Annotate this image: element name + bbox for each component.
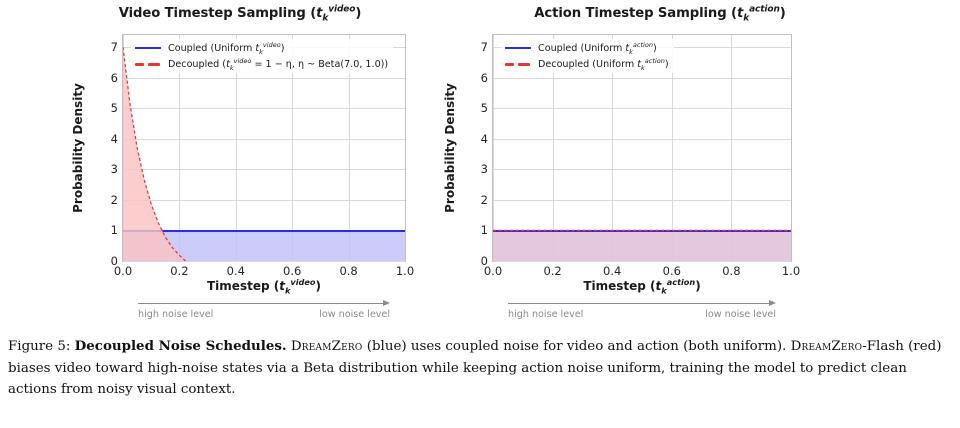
noise-direction-arrow-icon bbox=[138, 299, 390, 309]
y-tick-2: 2 bbox=[111, 193, 118, 207]
legend-swatch-dashed-line-icon bbox=[505, 58, 531, 70]
x-tick-2: 0.4 bbox=[227, 264, 245, 278]
caption-middle-text: (blue) uses coupled noise for video and … bbox=[362, 339, 790, 354]
x-axis-label-action: Timestep (tkaction) bbox=[492, 279, 792, 293]
x-tick-4: 0.8 bbox=[339, 264, 357, 278]
legend-swatch-solid-line-icon bbox=[505, 42, 531, 54]
legend-item-decoupled: Decoupled (Uniform tkaction) bbox=[505, 58, 669, 70]
gridline-y-0 bbox=[123, 261, 405, 262]
note-high-noise: high noise level bbox=[138, 309, 213, 320]
panel-title-video: Video Timestep Sampling (tkvideo) bbox=[20, 6, 460, 21]
y-tick-6: 6 bbox=[111, 71, 118, 85]
x-tick-2: 0.4 bbox=[603, 264, 621, 278]
x-tick-4: 0.8 bbox=[722, 264, 740, 278]
legend-label-coupled: Coupled (Uniform tkaction) bbox=[538, 43, 657, 54]
y-tick-3: 3 bbox=[111, 162, 118, 176]
y-tick-2: 2 bbox=[481, 193, 488, 207]
x-tick-5: 1.0 bbox=[782, 264, 800, 278]
legend-item-coupled: Coupled (Uniform tkaction) bbox=[505, 42, 669, 54]
y-tick-4: 4 bbox=[481, 132, 488, 146]
x-tick-5: 1.0 bbox=[396, 264, 414, 278]
caption-system-name-2: DreamZero bbox=[791, 339, 863, 354]
caption-figure-number: Figure 5: bbox=[8, 339, 70, 354]
legend-item-coupled: Coupled (Uniform tkvideo) bbox=[135, 42, 388, 54]
y-tick-6: 6 bbox=[481, 71, 488, 85]
legend-swatch-solid-line-icon bbox=[135, 42, 161, 54]
plot-area-action: 0 1 2 3 4 5 6 7 0.0 0.2 0.4 0.6 0.8 1.0 … bbox=[492, 34, 792, 262]
caption-bold-title: Decoupled Noise Schedules. bbox=[75, 338, 287, 354]
y-tick-4: 4 bbox=[111, 132, 118, 146]
x-tick-1: 0.2 bbox=[543, 264, 561, 278]
noise-direction-arrow-icon bbox=[508, 299, 776, 309]
plot-area-video: 0 1 2 3 4 5 6 7 0.0 0.2 0.4 0.6 0.8 1.0 … bbox=[122, 34, 406, 262]
x-tick-0: 0.0 bbox=[114, 264, 132, 278]
note-high-noise: high noise level bbox=[508, 309, 583, 320]
legend-item-decoupled: Decoupled (tkvideo = 1 − η, η ~ Beta(7.0… bbox=[135, 58, 388, 70]
y-axis-label-action: Probability Density bbox=[443, 83, 457, 213]
note-low-noise: low noise level bbox=[319, 309, 390, 320]
x-tick-0: 0.0 bbox=[484, 264, 502, 278]
gridline-y-0 bbox=[493, 261, 791, 262]
legend-action: Coupled (Uniform tkaction) Decoupled (Un… bbox=[501, 39, 674, 73]
panel-action-timestep-sampling: Action Timestep Sampling (tkaction) Prob… bbox=[440, 0, 880, 330]
y-axis-label-video: Probability Density bbox=[71, 83, 85, 213]
legend-label-decoupled: Decoupled (Uniform tkaction) bbox=[538, 59, 669, 70]
y-tick-7: 7 bbox=[481, 40, 488, 54]
note-low-noise: low noise level bbox=[705, 309, 776, 320]
x-tick-1: 0.2 bbox=[170, 264, 188, 278]
legend-label-coupled: Coupled (Uniform tkvideo) bbox=[168, 43, 284, 54]
y-tick-1: 1 bbox=[481, 223, 488, 237]
x-axis-label-video: Timestep (tkvideo) bbox=[122, 279, 406, 293]
legend-swatch-dashed-line-icon bbox=[135, 58, 161, 70]
legend-video: Coupled (Uniform tkvideo) Decoupled (tkv… bbox=[131, 39, 393, 73]
figure-5: Video Timestep Sampling (tkvideo) Probab… bbox=[0, 0, 960, 330]
y-tick-1: 1 bbox=[111, 223, 118, 237]
legend-label-decoupled: Decoupled (tkvideo = 1 − η, η ~ Beta(7.0… bbox=[168, 59, 388, 70]
x-tick-3: 0.6 bbox=[283, 264, 301, 278]
y-tick-5: 5 bbox=[481, 101, 488, 115]
caption-system-name-1: DreamZero bbox=[291, 339, 363, 354]
panel-video-timestep-sampling: Video Timestep Sampling (tkvideo) Probab… bbox=[20, 0, 460, 330]
figure-caption: Figure 5: Decoupled Noise Schedules. Dre… bbox=[8, 336, 952, 401]
panel-title-action: Action Timestep Sampling (tkaction) bbox=[440, 6, 880, 21]
y-tick-7: 7 bbox=[111, 40, 118, 54]
y-tick-5: 5 bbox=[111, 101, 118, 115]
y-tick-3: 3 bbox=[481, 162, 488, 176]
x-tick-3: 0.6 bbox=[663, 264, 681, 278]
